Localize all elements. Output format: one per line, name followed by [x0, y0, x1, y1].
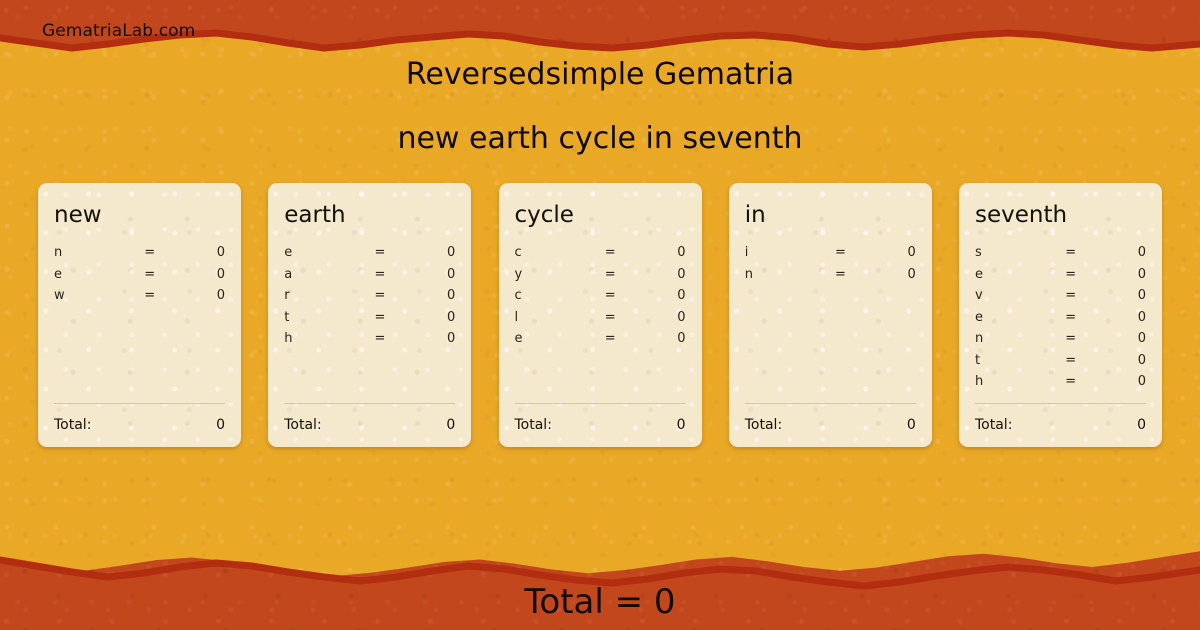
- letter-value: 0: [1090, 245, 1146, 260]
- card-total-value: 0: [446, 417, 455, 433]
- word-card: newn=0e=0w=0Total:0: [38, 183, 241, 447]
- letter-value-row: n=0: [745, 267, 916, 289]
- equals-sign: =: [131, 245, 169, 260]
- letter-glyph: v: [975, 288, 1052, 303]
- letter-value: 0: [1090, 374, 1146, 389]
- letter-value-row: i=0: [745, 245, 916, 267]
- card-spacer: [54, 310, 225, 403]
- letter-value: 0: [399, 310, 455, 325]
- letter-glyph: w: [54, 288, 131, 303]
- letter-value-row: r=0: [284, 288, 455, 310]
- letter-value: 0: [629, 267, 685, 282]
- letter-value-row: e=0: [975, 267, 1146, 289]
- letter-value-row: h=0: [284, 331, 455, 353]
- card-total-row: Total:0: [745, 417, 916, 433]
- word-card-title: new: [54, 203, 225, 228]
- letter-value-row: w=0: [54, 288, 225, 310]
- letter-value: 0: [399, 245, 455, 260]
- letter-glyph: h: [975, 374, 1052, 389]
- card-total-label: Total:: [975, 417, 1137, 433]
- equals-sign: =: [131, 288, 169, 303]
- equals-sign: =: [591, 288, 629, 303]
- word-card-list: newn=0e=0w=0Total:0earthe=0a=0r=0t=0h=0T…: [38, 183, 1162, 447]
- equals-sign: =: [1052, 310, 1090, 325]
- letter-value: 0: [859, 267, 915, 282]
- letter-glyph: n: [54, 245, 131, 260]
- card-total-row: Total:0: [284, 417, 455, 433]
- letter-value-row: y=0: [515, 267, 686, 289]
- letter-value-row: t=0: [284, 310, 455, 332]
- letter-value-row: t=0: [975, 353, 1146, 375]
- equals-sign: =: [361, 245, 399, 260]
- equals-sign: =: [361, 310, 399, 325]
- letter-value-list: c=0y=0c=0l=0e=0: [515, 245, 686, 353]
- letter-value: 0: [169, 245, 225, 260]
- word-card-title: earth: [284, 203, 455, 228]
- equals-sign: =: [361, 288, 399, 303]
- equals-sign: =: [1052, 267, 1090, 282]
- letter-glyph: h: [284, 331, 361, 346]
- card-total-row: Total:0: [975, 417, 1146, 433]
- card-total-value: 0: [216, 417, 225, 433]
- site-brand-label[interactable]: GematriaLab.com: [42, 21, 195, 41]
- card-spacer: [745, 288, 916, 403]
- card-total-value: 0: [1137, 417, 1146, 433]
- letter-value-row: e=0: [515, 331, 686, 353]
- letter-glyph: c: [515, 288, 592, 303]
- letter-glyph: e: [975, 267, 1052, 282]
- card-spacer: [515, 353, 686, 403]
- card-total-label: Total:: [54, 417, 216, 433]
- card-spacer: [284, 353, 455, 403]
- letter-glyph: t: [284, 310, 361, 325]
- letter-value-row: c=0: [515, 245, 686, 267]
- letter-glyph: a: [284, 267, 361, 282]
- letter-value: 0: [859, 245, 915, 260]
- equals-sign: =: [1052, 288, 1090, 303]
- letter-value-row: a=0: [284, 267, 455, 289]
- letter-glyph: y: [515, 267, 592, 282]
- letter-glyph: r: [284, 288, 361, 303]
- letter-glyph: e: [975, 310, 1052, 325]
- word-card: sevenths=0e=0v=0e=0n=0t=0h=0Total:0: [959, 183, 1162, 447]
- equals-sign: =: [1052, 374, 1090, 389]
- word-card: earthe=0a=0r=0t=0h=0Total:0: [268, 183, 471, 447]
- letter-glyph: s: [975, 245, 1052, 260]
- gematria-result-page: GematriaLab.com Reversedsimple Gematria …: [0, 0, 1200, 630]
- equals-sign: =: [361, 267, 399, 282]
- letter-glyph: i: [745, 245, 822, 260]
- equals-sign: =: [591, 331, 629, 346]
- letter-value-list: s=0e=0v=0e=0n=0t=0h=0: [975, 245, 1146, 396]
- card-total-value: 0: [907, 417, 916, 433]
- card-total-row: Total:0: [54, 417, 225, 433]
- letter-value: 0: [629, 310, 685, 325]
- card-divider: [515, 403, 686, 404]
- letter-value: 0: [1090, 353, 1146, 368]
- letter-glyph: c: [515, 245, 592, 260]
- letter-value: 0: [1090, 267, 1146, 282]
- page-title: Reversedsimple Gematria: [0, 57, 1200, 92]
- grand-total-label: Total = 0: [0, 582, 1200, 622]
- letter-value-row: h=0: [975, 374, 1146, 396]
- card-total-label: Total:: [515, 417, 677, 433]
- card-spacer: [975, 396, 1146, 403]
- letter-value-list: n=0e=0w=0: [54, 245, 225, 310]
- card-total-row: Total:0: [515, 417, 686, 433]
- letter-value-row: n=0: [975, 331, 1146, 353]
- letter-value: 0: [629, 245, 685, 260]
- letter-glyph: n: [975, 331, 1052, 346]
- card-total-label: Total:: [745, 417, 907, 433]
- letter-value-row: e=0: [284, 245, 455, 267]
- card-divider: [975, 403, 1146, 404]
- letter-glyph: e: [54, 267, 131, 282]
- word-card-title: seventh: [975, 203, 1146, 228]
- word-card: ini=0n=0Total:0: [729, 183, 932, 447]
- letter-value: 0: [629, 331, 685, 346]
- equals-sign: =: [591, 267, 629, 282]
- equals-sign: =: [1052, 245, 1090, 260]
- card-divider: [284, 403, 455, 404]
- equals-sign: =: [1052, 353, 1090, 368]
- equals-sign: =: [1052, 331, 1090, 346]
- phrase-subtitle: new earth cycle in seventh: [0, 121, 1200, 156]
- letter-glyph: t: [975, 353, 1052, 368]
- equals-sign: =: [591, 310, 629, 325]
- equals-sign: =: [591, 245, 629, 260]
- card-divider: [745, 403, 916, 404]
- word-card-title: in: [745, 203, 916, 228]
- letter-value: 0: [1090, 331, 1146, 346]
- letter-glyph: l: [515, 310, 592, 325]
- letter-value-list: e=0a=0r=0t=0h=0: [284, 245, 455, 353]
- letter-value-list: i=0n=0: [745, 245, 916, 288]
- letter-glyph: n: [745, 267, 822, 282]
- equals-sign: =: [822, 245, 860, 260]
- word-card-title: cycle: [515, 203, 686, 228]
- card-total-value: 0: [677, 417, 686, 433]
- letter-value: 0: [1090, 288, 1146, 303]
- letter-value: 0: [399, 267, 455, 282]
- letter-value-row: l=0: [515, 310, 686, 332]
- letter-value: 0: [169, 288, 225, 303]
- letter-value: 0: [399, 331, 455, 346]
- equals-sign: =: [361, 331, 399, 346]
- equals-sign: =: [131, 267, 169, 282]
- letter-value: 0: [399, 288, 455, 303]
- letter-value-row: c=0: [515, 288, 686, 310]
- letter-value-row: s=0: [975, 245, 1146, 267]
- letter-value-row: e=0: [54, 267, 225, 289]
- equals-sign: =: [822, 267, 860, 282]
- letter-value-row: v=0: [975, 288, 1146, 310]
- letter-value-row: n=0: [54, 245, 225, 267]
- card-divider: [54, 403, 225, 404]
- card-total-label: Total:: [284, 417, 446, 433]
- letter-value: 0: [1090, 310, 1146, 325]
- word-card: cyclec=0y=0c=0l=0e=0Total:0: [499, 183, 702, 447]
- letter-value: 0: [169, 267, 225, 282]
- letter-value-row: e=0: [975, 310, 1146, 332]
- letter-glyph: e: [284, 245, 361, 260]
- letter-value: 0: [629, 288, 685, 303]
- letter-glyph: e: [515, 331, 592, 346]
